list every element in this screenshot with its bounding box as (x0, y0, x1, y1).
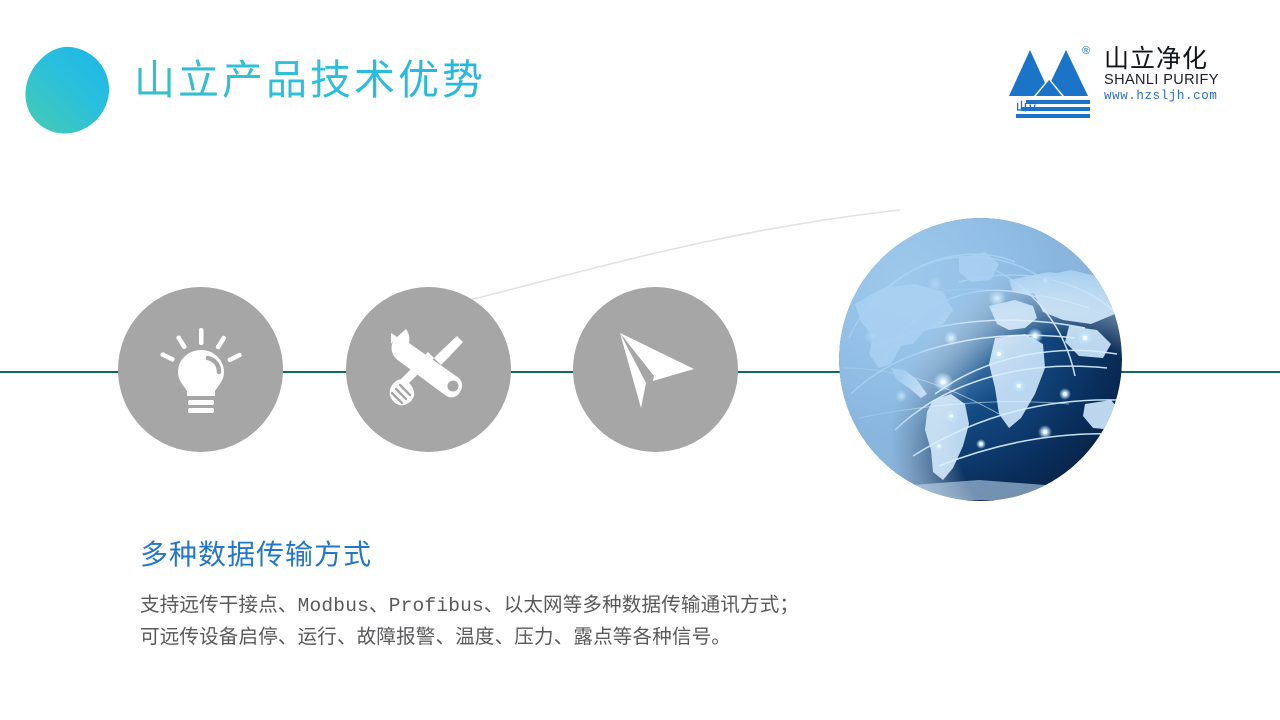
icon-circle-paper-plane[interactable] (573, 287, 738, 452)
logo-mark-label: 山立 (1016, 102, 1038, 113)
icon-circle-tools[interactable] (346, 287, 511, 452)
slide-canvas: 山立产品技术优势 ® 山立 山立净化 SHANLI PURIFY www.hzs… (0, 0, 1280, 720)
logo-company-cn: 山立净化 (1104, 46, 1224, 72)
diagram-band (0, 170, 1280, 530)
paper-plane-icon (606, 320, 706, 420)
decorative-blob-shape (24, 46, 110, 134)
logo-website-url: www.hzsljh.com (1104, 89, 1224, 105)
network-globe-image (839, 218, 1122, 501)
icon-circle-lightbulb[interactable] (118, 287, 283, 452)
tools-icon (379, 320, 479, 420)
lightbulb-icon (153, 322, 249, 418)
registered-trademark-icon: ® (1082, 46, 1090, 57)
section-paragraph: 支持远传干接点、Modbus、Profibus、以太网等多种数据传输通讯方式； … (140, 590, 799, 654)
logo-wordmark: 山立净化 SHANLI PURIFY www.hzsljh.com (1104, 46, 1224, 105)
company-logo: ® 山立 山立净化 SHANLI PURIFY www.hzsljh.com (1008, 44, 1220, 122)
paragraph-line-1: 支持远传干接点、Modbus、Profibus、以太网等多种数据传输通讯方式； (140, 590, 799, 622)
section-subheading: 多种数据传输方式 (140, 538, 372, 572)
paragraph-line-2: 可远传设备启停、运行、故障报警、温度、压力、露点等各种信号。 (140, 622, 799, 654)
page-title: 山立产品技术优势 (134, 58, 486, 103)
logo-company-en: SHANLI PURIFY (1104, 72, 1224, 89)
